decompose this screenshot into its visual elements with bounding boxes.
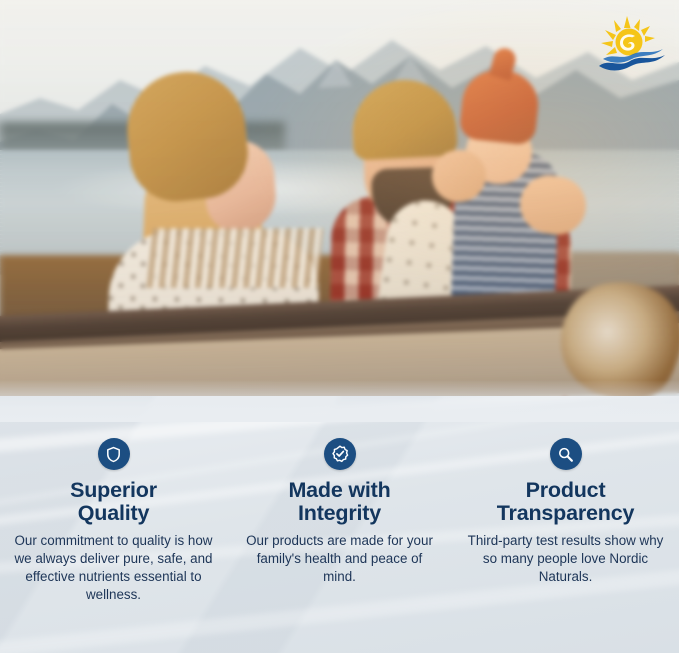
feature-title-line-2: Quality <box>70 502 157 525</box>
feature-title-line-1: Made with <box>288 479 390 502</box>
feature-title: Product Transparency <box>497 479 634 525</box>
feature-title: Superior Quality <box>70 479 157 525</box>
feature-column-product-transparency: Product Transparency Third-party test re… <box>453 438 679 586</box>
feature-title: Made with Integrity <box>288 479 390 525</box>
woman-sweater-pattern <box>146 228 323 288</box>
feature-title-line-2: Integrity <box>288 502 390 525</box>
magnifying-glass-icon <box>550 438 582 470</box>
nordic-naturals-brand-banner: Superior Quality Our commitment to quali… <box>0 0 679 653</box>
feature-title-line-1: Product <box>497 479 634 502</box>
sun-wave-logo-icon <box>597 12 667 76</box>
hero-photo <box>0 0 679 438</box>
feature-description: Third-party test results show why so man… <box>465 532 667 585</box>
features-row: Superior Quality Our commitment to quali… <box>0 438 679 603</box>
shield-icon <box>98 438 130 470</box>
feature-column-superior-quality: Superior Quality Our commitment to quali… <box>1 438 227 603</box>
feature-description: Our commitment to quality is how we alwa… <box>13 532 215 603</box>
feature-description: Our products are made for your family's … <box>239 532 441 585</box>
feature-title-line-1: Superior <box>70 479 157 502</box>
check-badge-icon <box>324 438 356 470</box>
feature-title-line-2: Transparency <box>497 502 634 525</box>
feature-column-made-with-integrity: Made with Integrity Our products are mad… <box>227 438 453 586</box>
